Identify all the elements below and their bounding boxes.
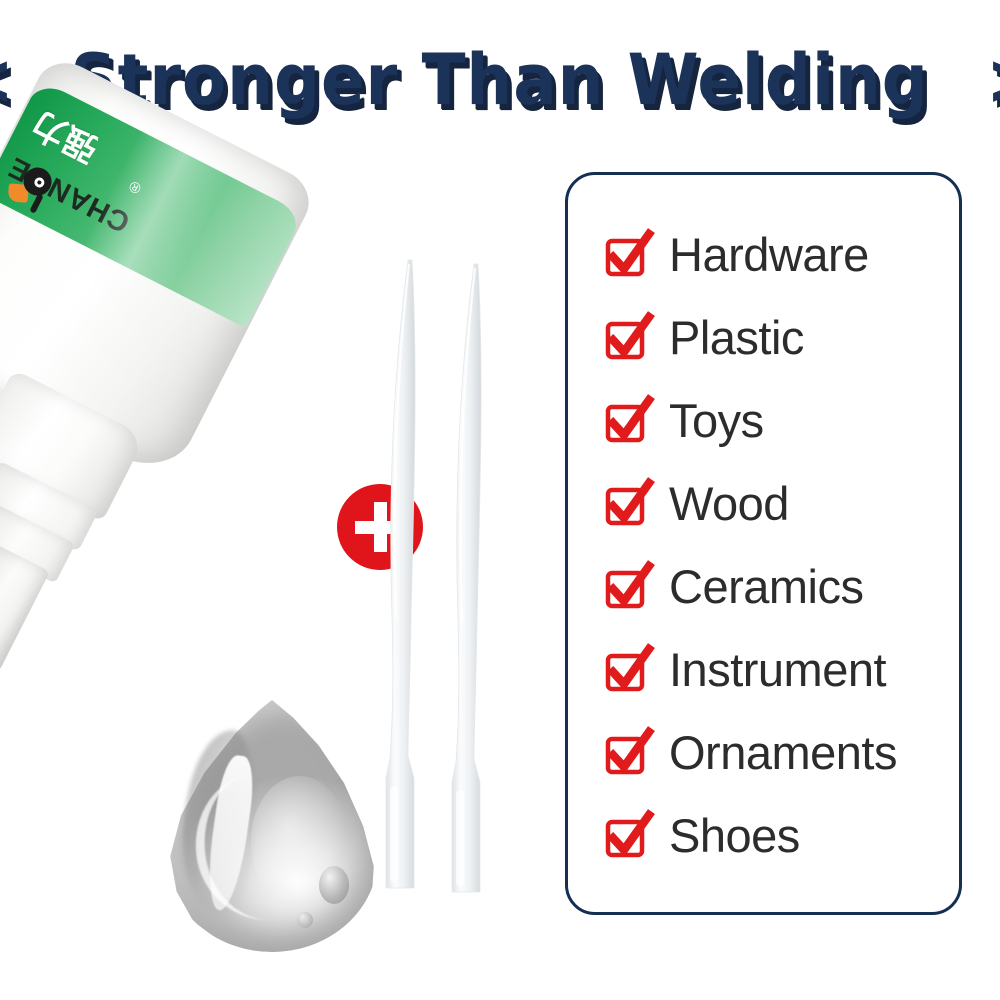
glue-droplet [166,700,378,952]
headline-title: Stronger Than Welding [71,45,929,115]
checkbox-checked-icon[interactable] [605,316,649,360]
list-item-label: Instrument [669,646,886,693]
applicator-stick-1 [378,258,438,898]
checkbox-checked-icon[interactable] [605,565,649,609]
checkbox-checked-icon[interactable] [605,399,649,443]
left-bracket-icon: < [0,44,13,115]
product-ad-banner: < Stronger Than Welding > 强力 ® CHANGE [0,0,1000,1000]
list-item-label: Wood [669,480,789,527]
checkbox-checked-icon[interactable] [605,814,649,858]
list-item[interactable]: Plastic [605,296,955,379]
list-item[interactable]: Toys [605,379,955,462]
right-bracket-icon: > [987,44,1000,115]
list-item[interactable]: Wood [605,462,955,545]
bottle-label-registered-icon: ® [126,177,144,197]
compatible-materials-panel: Hardware Plastic Toys [565,172,962,915]
list-item[interactable]: Ceramics [605,545,955,628]
list-item-label: Plastic [669,314,804,361]
materials-list: Hardware Plastic Toys [605,213,955,877]
list-item-label: Shoes [669,812,800,859]
checkbox-checked-icon[interactable] [605,233,649,277]
list-item[interactable]: Instrument [605,628,955,711]
list-item[interactable]: Ornaments [605,711,955,794]
list-item-label: Hardware [669,231,869,278]
list-item-label: Ornaments [669,729,897,776]
checkbox-checked-icon[interactable] [605,482,649,526]
list-item-label: Ceramics [669,563,863,610]
list-item-label: Toys [669,397,764,444]
checkbox-checked-icon[interactable] [605,648,649,692]
droplet-bubble-large [319,866,349,904]
checkbox-checked-icon[interactable] [605,731,649,775]
applicator-stick-2 [444,262,504,902]
list-item[interactable]: Hardware [605,213,955,296]
list-item[interactable]: Shoes [605,794,955,877]
